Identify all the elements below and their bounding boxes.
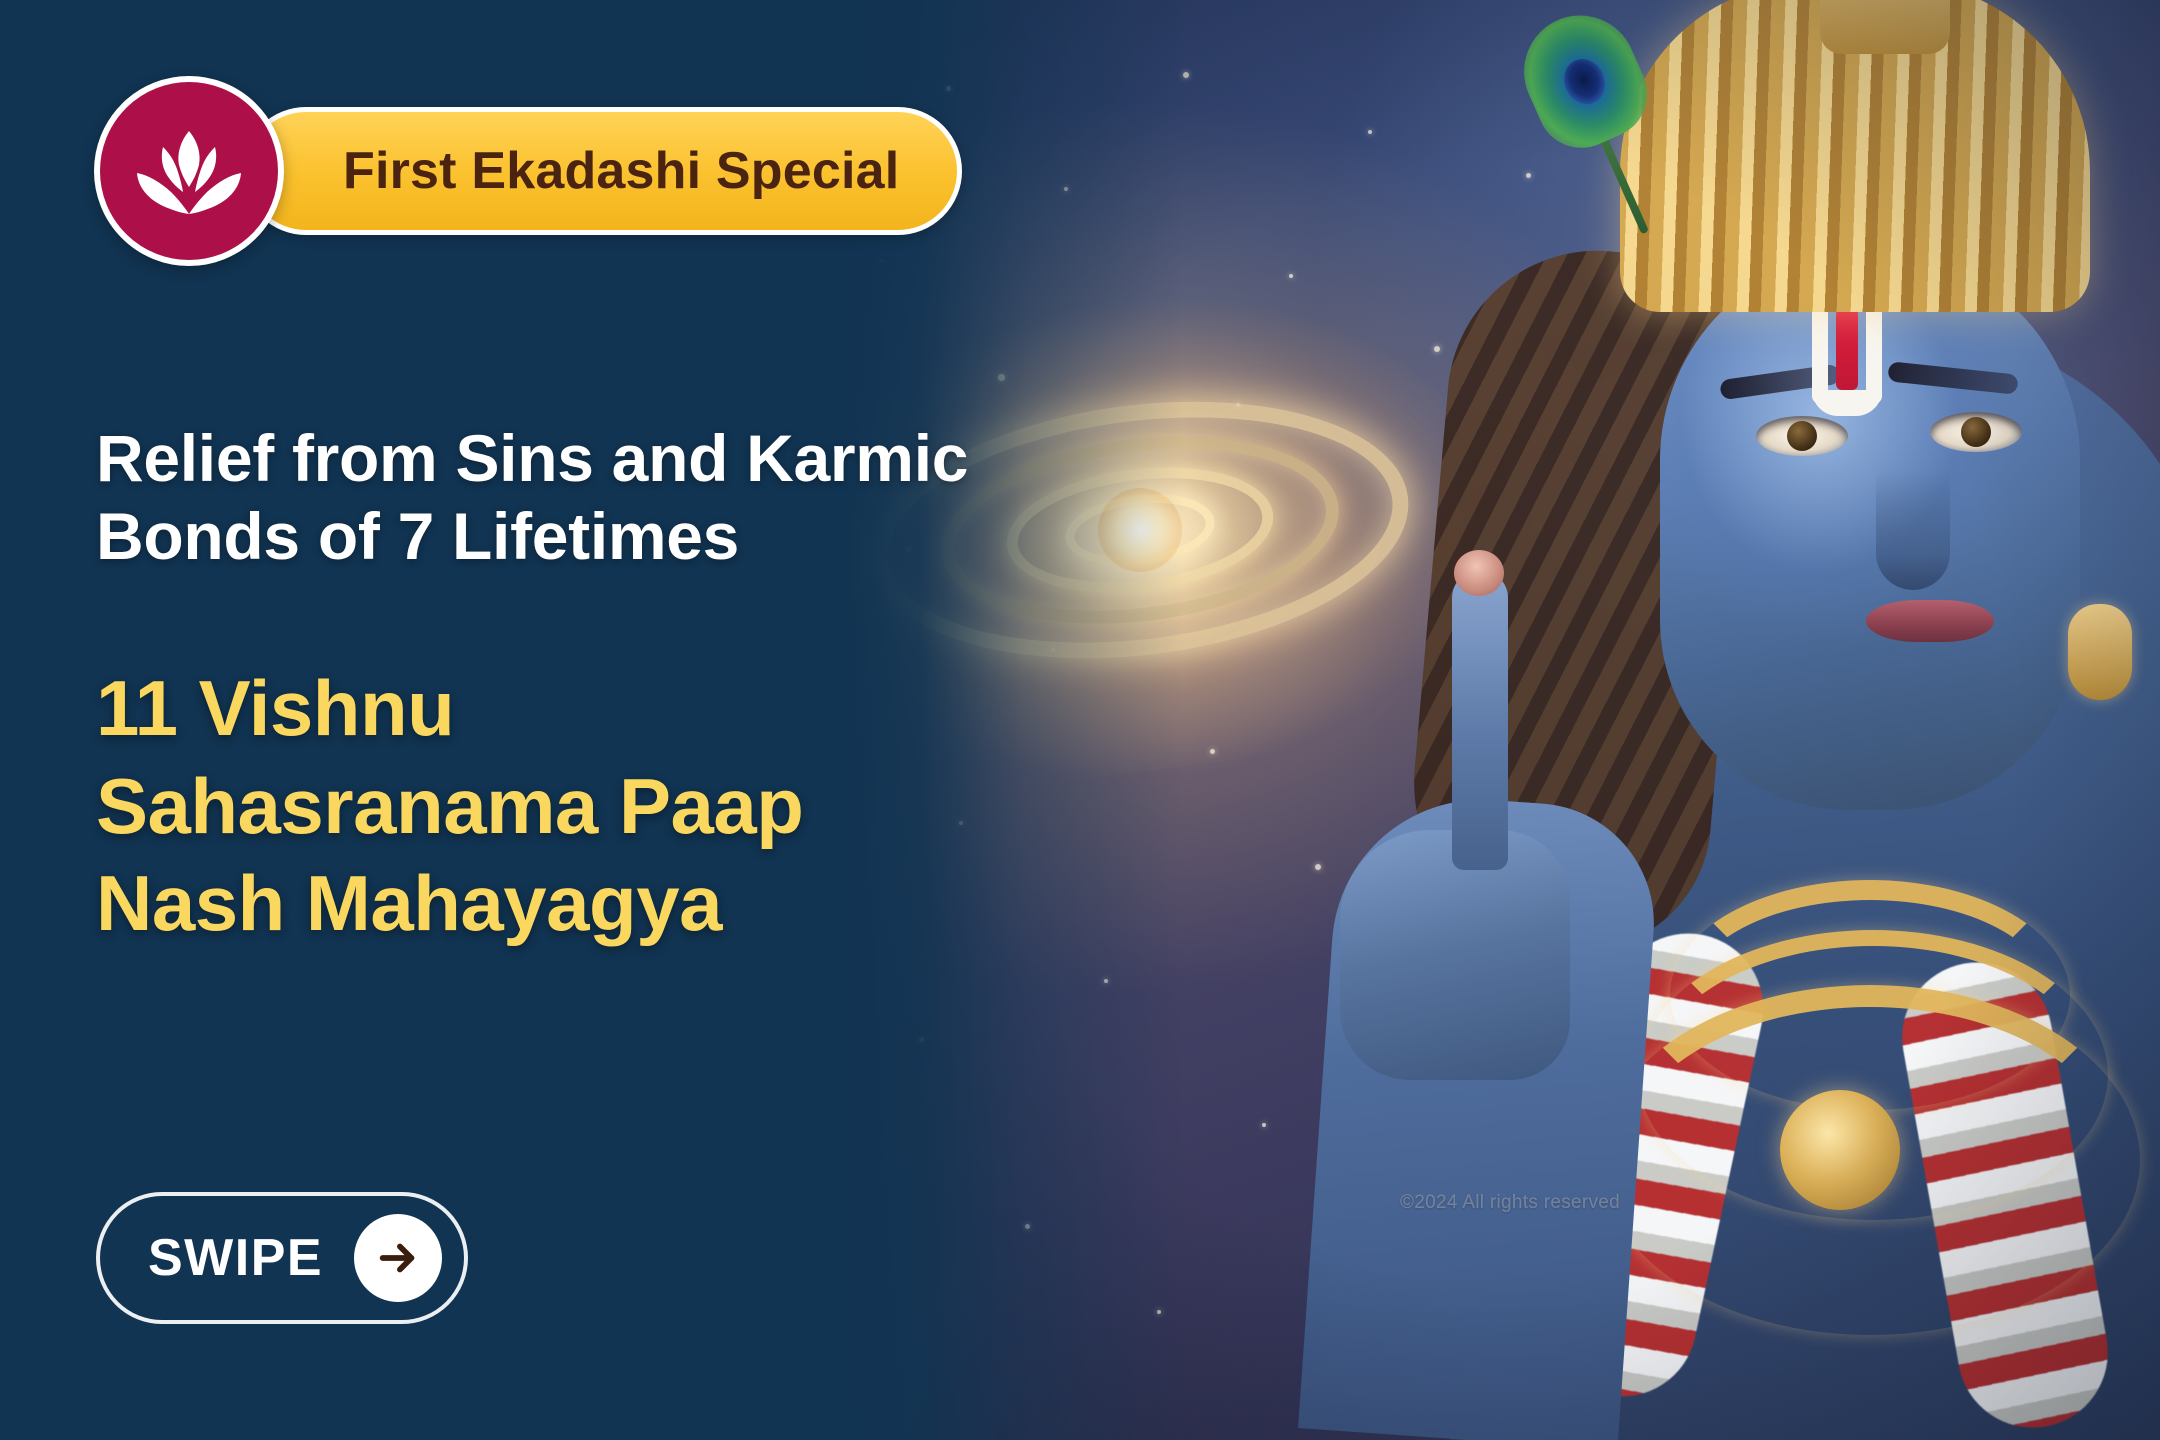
subheadline-line-1: 11 Vishnu (96, 660, 1116, 758)
arrow-right-icon[interactable] (354, 1214, 442, 1302)
headline: Relief from Sins and Karmic Bonds of 7 L… (96, 420, 1096, 576)
badge-label: First Ekadashi Special (343, 141, 899, 201)
subheadline: 11 Vishnu Sahasranama Paap Nash Mahayagy… (96, 660, 1116, 953)
headline-line-1: Relief from Sins and Karmic (96, 420, 1096, 498)
headline-line-2: Bonds of 7 Lifetimes (96, 498, 1096, 576)
brand-logo (94, 76, 284, 266)
badge-row: First Ekadashi Special (94, 76, 962, 266)
badge-pill: First Ekadashi Special (242, 107, 962, 235)
swipe-label: SWIPE (148, 1228, 323, 1288)
subheadline-line-2: Sahasranama Paap (96, 758, 1116, 856)
lotus-icon (131, 125, 247, 217)
content-overlay: First Ekadashi Special Relief from Sins … (0, 0, 1120, 1440)
swipe-button[interactable]: SWIPE (96, 1192, 468, 1324)
watermark-text: ©2024 All rights reserved (1300, 1190, 1720, 1216)
promotional-banner: ©2024 All rights reserved First Ekadashi… (0, 0, 2160, 1440)
subheadline-line-3: Nash Mahayagya (96, 855, 1116, 953)
